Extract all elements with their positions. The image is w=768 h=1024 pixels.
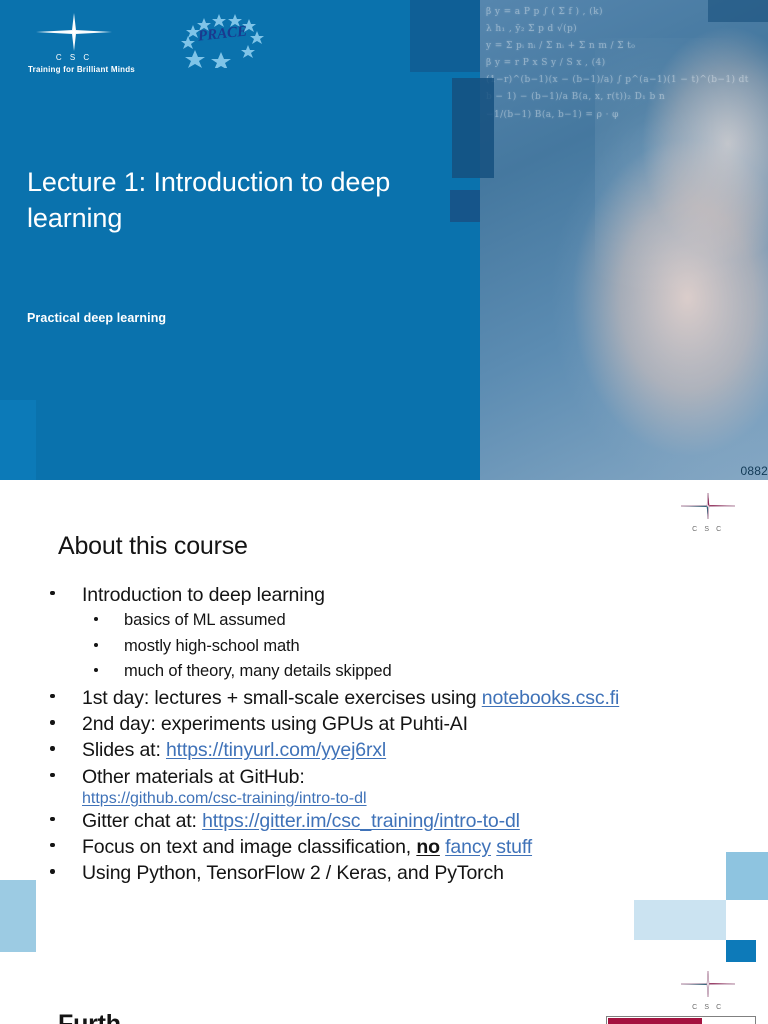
decor-band-bottom [380, 393, 480, 480]
formula-row: b − 1) − (b−1)/a B(a, x, r(t))₂ D₁ b n [486, 89, 762, 106]
bullet-list-container: Introduction to deep learning basics of … [44, 582, 756, 886]
decor-square-dark-mid [452, 78, 494, 178]
bullet-dot-icon [94, 668, 98, 672]
list-item-label: 1st day: lectures + small-scale exercise… [82, 687, 482, 709]
csc-star-icon [680, 492, 736, 520]
data-table-preview [606, 1016, 756, 1024]
list-item-label: mostly high-school math [124, 637, 300, 655]
list-item: basics of ML assumed [82, 608, 756, 634]
list-item: Focus on text and image classification, … [44, 834, 756, 860]
decor-square-left-light [0, 400, 36, 480]
list-item-label: much of theory, many details skipped [124, 662, 392, 680]
link-tinyurl-slides[interactable]: https://tinyurl.com/yyej6rxl [166, 739, 386, 761]
csc-star-icon [680, 970, 736, 998]
list-item-label: Other materials at GitHub: [82, 766, 305, 788]
bullet-dot-icon [50, 869, 55, 874]
link-gitter-chat[interactable]: https://gitter.im/csc_training/intro-to-… [202, 810, 520, 832]
list-item: 2nd day: experiments using GPUs at Puhti… [44, 711, 756, 737]
csc-wordmark: C S C [678, 526, 738, 533]
list-item: 1st day: lectures + small-scale exercise… [44, 685, 756, 711]
list-item: Using Python, TensorFlow 2 / Keras, and … [44, 860, 756, 886]
list-item-label: Focus on text and image classification, [82, 836, 416, 858]
page-title: About this course [58, 532, 248, 561]
decor-square-medium [726, 852, 768, 900]
prace-stars-icon: PRACE [180, 12, 266, 68]
list-item: Other materials at GitHub: [44, 764, 756, 790]
photo-formula-overlay: β y = a P p ∫ ( Σ f ) , (k) λ h₁ , ȳ₂ Σ … [480, 0, 768, 480]
link-github-intro-to-dl[interactable]: https://github.com/csc-training/intro-to… [82, 790, 367, 807]
csc-logo: C S C Training for Brilliant Minds [28, 12, 120, 74]
bullet-dot-icon [50, 817, 55, 822]
slide-deck-page: β y = a P p ∫ ( Σ f ) , (k) λ h₁ , ȳ₂ Σ … [0, 0, 768, 1024]
bullet-dot-icon [50, 843, 55, 848]
bullet-dot-icon [50, 773, 55, 778]
formula-row: β y = r P x S y / S x , (4) [486, 55, 762, 72]
slide-title-block: Lecture 1: Introduction to deep learning [27, 165, 427, 236]
slide-title-text: Lecture 1: Introduction to deep learning [27, 165, 427, 236]
csc-tagline: Training for Brilliant Minds [28, 65, 120, 74]
title-photo-panel: β y = a P p ∫ ( Σ f ) , (k) λ h₁ , ȳ₂ Σ … [480, 0, 768, 480]
csc-wordmark: C S C [678, 1004, 738, 1011]
slide-separator [0, 962, 768, 970]
list-item: Gitter chat at: https://gitter.im/csc_tr… [44, 808, 756, 834]
list-item: Slides at: https://tinyurl.com/yyej6rxl [44, 737, 756, 763]
list-item-label: Gitter chat at: [82, 810, 202, 832]
formula-row: y = Σ pᵢ nᵢ / Σ nᵢ + Σ n m / Σ t₀ [486, 38, 762, 55]
bullet-dot-icon [94, 643, 98, 647]
csc-logo: C S C [678, 492, 738, 533]
csc-wordmark: C S C [28, 53, 120, 62]
list-item-label: basics of ML assumed [124, 611, 286, 629]
formula-row: −1/(b−1) B(a, b−1) = ρ · φ [486, 107, 762, 124]
decor-square-dark-top [410, 0, 480, 72]
list-item: much of theory, many details skipped [82, 659, 756, 685]
link-fancy[interactable]: fancy [445, 836, 491, 858]
page-title: Furth [58, 1010, 121, 1024]
bullet-dot-icon [50, 746, 55, 751]
list-item: mostly high-school math [82, 634, 756, 660]
bullet-dot-icon [94, 617, 98, 621]
decor-square-left-light [0, 880, 36, 952]
image-corner-code: 0882 [741, 464, 768, 478]
title-logo-row: C S C Training for Brilliant Minds [28, 12, 266, 74]
formula-row: (1−r)^(b−1)(x − (b−1)/a) ∫ p^(a−1)(1 − t… [486, 72, 762, 89]
prace-logo: PRACE [180, 12, 266, 68]
list-item-label: Introduction to deep learning [82, 584, 325, 606]
slide-subtitle-text: Practical deep learning [27, 311, 166, 325]
emphasis-no: no [416, 836, 440, 858]
slide-about-this-course: C S C About this course Introduction to … [0, 480, 768, 970]
bullet-dot-icon [50, 591, 55, 596]
list-item-label: Slides at: [82, 739, 166, 761]
bullet-dot-icon [50, 694, 55, 699]
csc-star-icon [35, 12, 113, 52]
bullet-list: Introduction to deep learning basics of … [44, 582, 756, 886]
formula-row: λ h₁ , ȳ₂ Σ p d √(p) [486, 21, 762, 38]
decor-square-dark-small [450, 190, 480, 222]
decor-square-pale [634, 900, 726, 940]
list-item-label: 2nd day: experiments using GPUs at Puhti… [82, 713, 468, 735]
list-item: Introduction to deep learning basics of … [44, 582, 756, 685]
link-stuff[interactable]: stuff [496, 836, 532, 858]
bullet-dot-icon [50, 720, 55, 725]
list-item-continuation: https://github.com/csc-training/intro-to… [44, 790, 756, 808]
slide-title: β y = a P p ∫ ( Σ f ) , (k) λ h₁ , ȳ₂ Σ … [0, 0, 768, 480]
csc-logo: C S C [678, 970, 738, 1011]
link-notebooks-csc-fi[interactable]: notebooks.csc.fi [482, 687, 619, 709]
decor-square [708, 0, 768, 22]
sub-bullet-list: basics of ML assumed mostly high-school … [82, 608, 756, 685]
table-highlight-bar [608, 1018, 702, 1024]
slide-next-partial: C S C Furth [0, 970, 768, 1024]
list-item-label: Using Python, TensorFlow 2 / Keras, and … [82, 862, 504, 884]
